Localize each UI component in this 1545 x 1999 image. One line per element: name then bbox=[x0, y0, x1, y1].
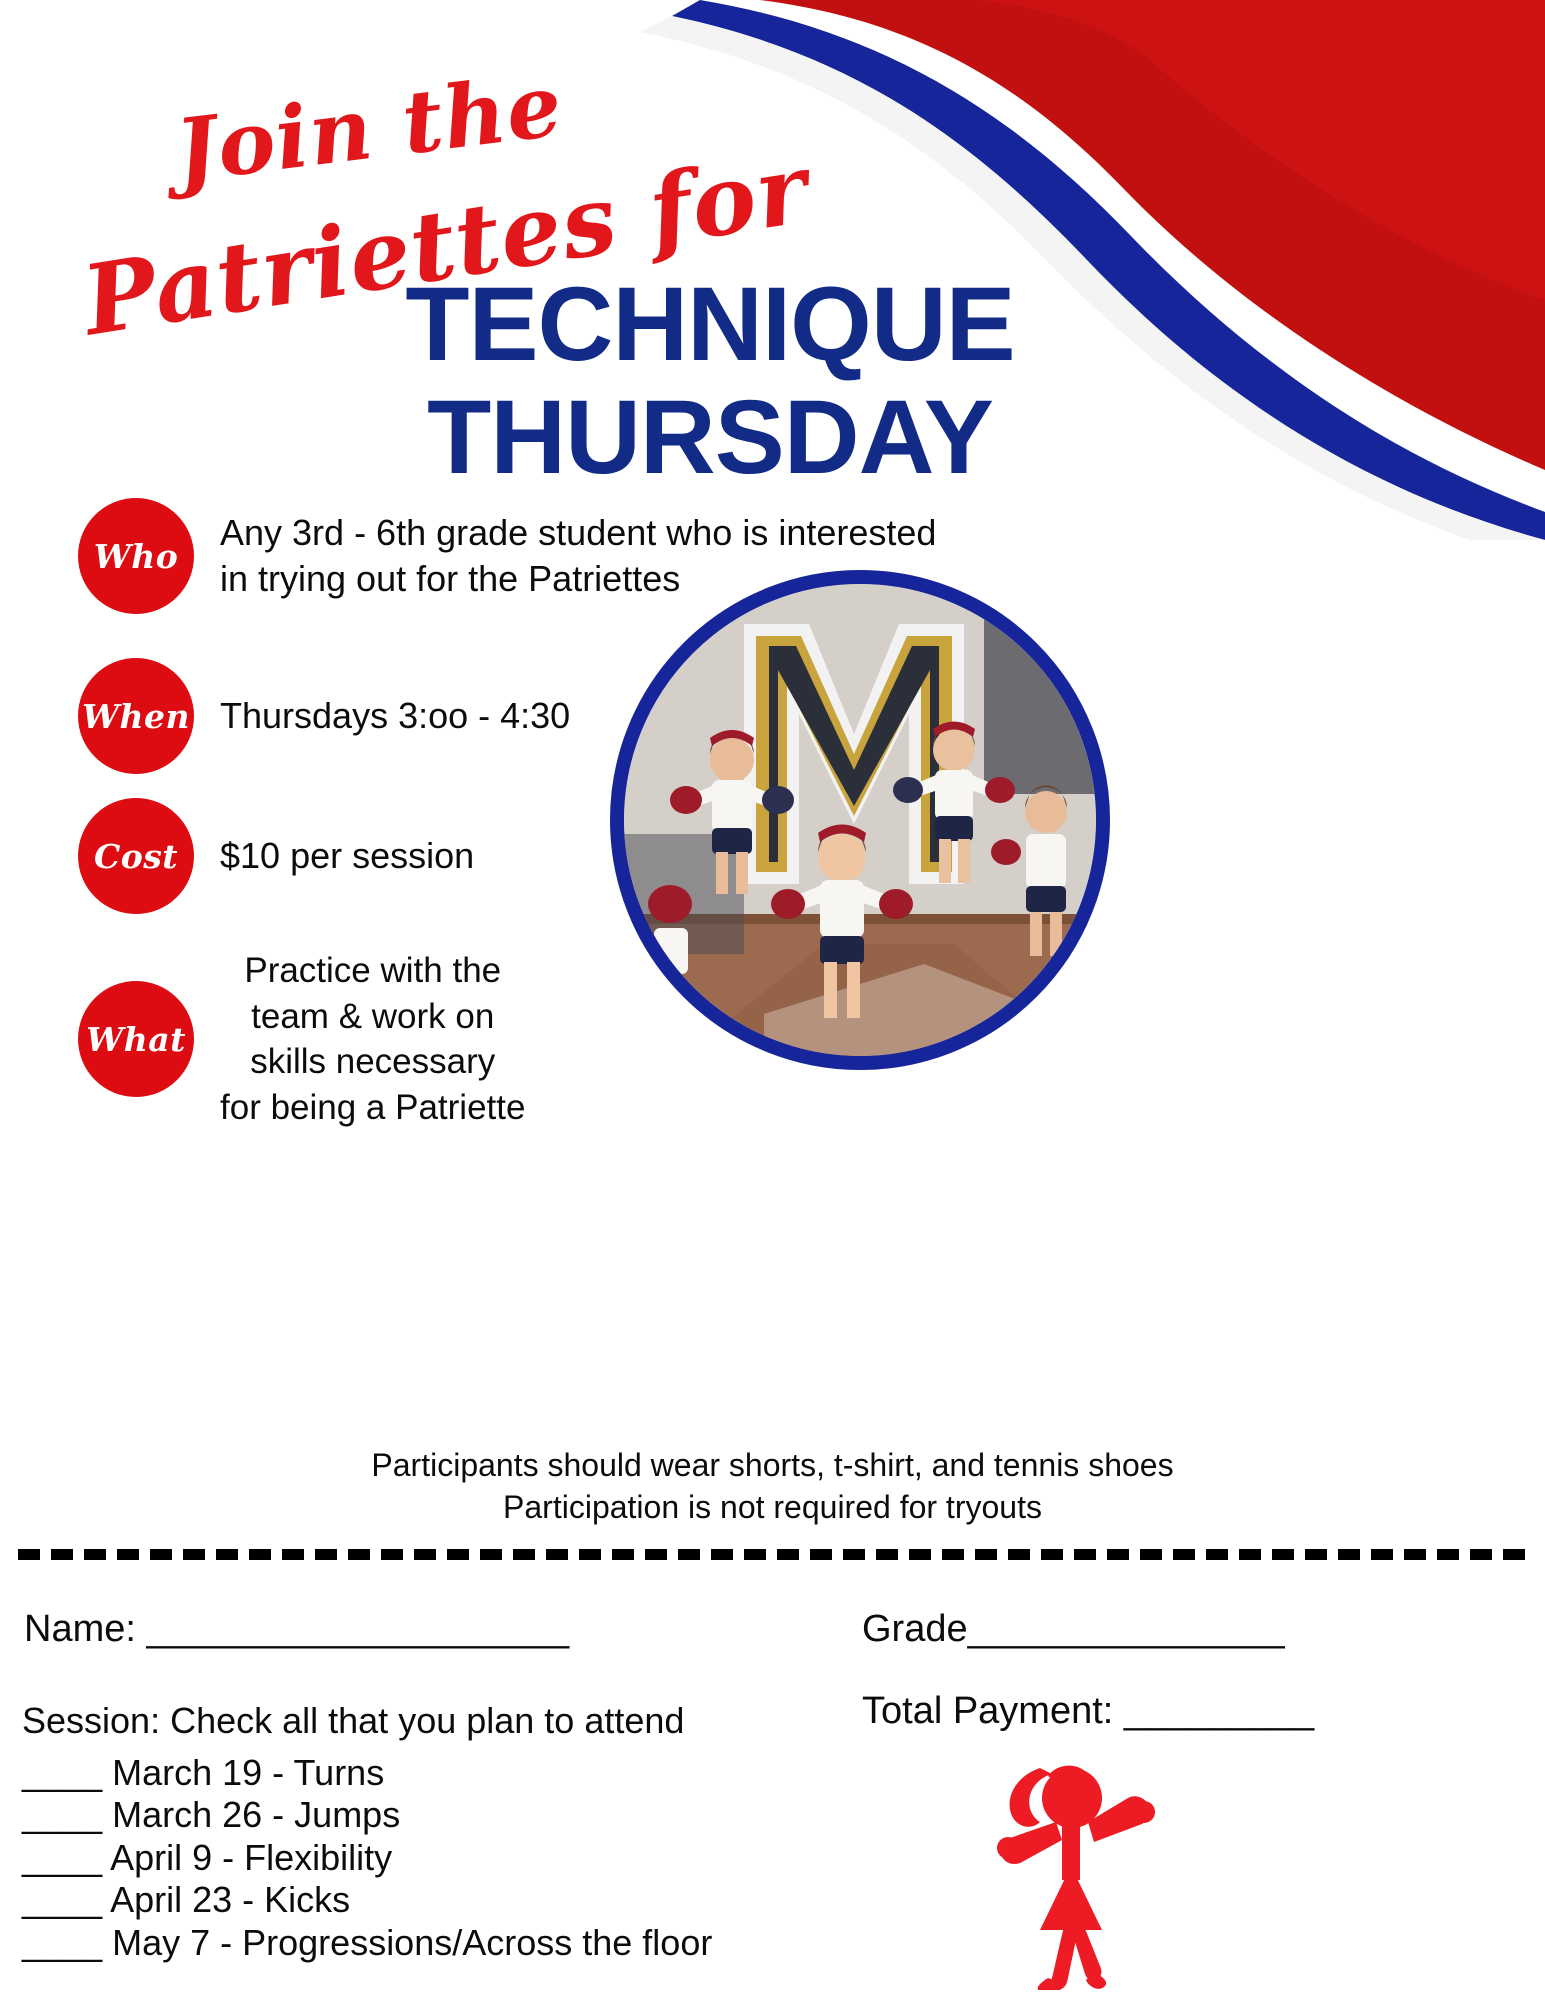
name-field[interactable]: Name: ____________________ bbox=[24, 1608, 569, 1651]
session-item[interactable]: ____ May 7 - Progressions/Across the flo… bbox=[22, 1922, 922, 1964]
session-label: March 26 - Jumps bbox=[112, 1794, 400, 1835]
title-line-thursday: THURSDAY bbox=[380, 381, 1040, 494]
session-checkbox-blank[interactable]: ____ bbox=[22, 1794, 102, 1835]
total-payment-blank-line[interactable]: _________ bbox=[1124, 1690, 1314, 1732]
session-label: April 23 - Kicks bbox=[110, 1879, 350, 1920]
page-title: TECHNIQUE THURSDAY bbox=[380, 268, 1040, 495]
note-line-2: Participation is not required for tryout… bbox=[0, 1486, 1545, 1528]
session-label: March 19 - Turns bbox=[112, 1752, 384, 1793]
session-item[interactable]: ____ April 9 - Flexibility bbox=[22, 1837, 922, 1879]
session-label: May 7 - Progressions/Across the floor bbox=[112, 1922, 712, 1963]
grade-field[interactable]: Grade_______________ bbox=[862, 1608, 1285, 1651]
title-line-technique: TECHNIQUE bbox=[380, 268, 1040, 381]
badge-when: When bbox=[78, 658, 194, 774]
session-item[interactable]: ____ March 19 - Turns bbox=[22, 1752, 922, 1794]
grade-label: Grade bbox=[862, 1608, 968, 1650]
session-item[interactable]: ____ April 23 - Kicks bbox=[22, 1879, 922, 1921]
total-payment-label: Total Payment: bbox=[862, 1690, 1113, 1732]
note-line-1: Participants should wear shorts, t-shirt… bbox=[0, 1444, 1545, 1486]
participant-notes: Participants should wear shorts, t-shirt… bbox=[0, 1444, 1545, 1528]
grade-blank-line[interactable]: _______________ bbox=[968, 1608, 1285, 1650]
session-item[interactable]: ____ March 26 - Jumps bbox=[22, 1794, 922, 1836]
info-text-what: Practice with the team & work on skills … bbox=[220, 948, 525, 1130]
info-row-when: When Thursdays 3:oo - 4:30 bbox=[78, 658, 698, 774]
session-checklist: ____ March 19 - Turns ____ March 26 - Ju… bbox=[22, 1752, 922, 1964]
info-row-cost: Cost $10 per session bbox=[78, 798, 698, 914]
session-heading: Session: Check all that you plan to atte… bbox=[22, 1700, 684, 1742]
flyer-page: Join the Patriettes for TECHNIQUE THURSD… bbox=[0, 0, 1545, 1999]
session-checkbox-blank[interactable]: ____ bbox=[22, 1837, 102, 1878]
info-row-what: What Practice with the team & work on sk… bbox=[78, 948, 638, 1130]
cheerleader-icon bbox=[968, 1740, 1168, 1990]
badge-what: What bbox=[78, 981, 194, 1097]
session-checkbox-blank[interactable]: ____ bbox=[22, 1752, 102, 1793]
total-payment-field[interactable]: Total Payment: _________ bbox=[862, 1690, 1314, 1733]
tear-off-divider bbox=[18, 1549, 1528, 1560]
badge-cost: Cost bbox=[78, 798, 194, 914]
name-label: Name: bbox=[24, 1608, 136, 1650]
session-checkbox-blank[interactable]: ____ bbox=[22, 1879, 102, 1920]
badge-who: Who bbox=[78, 498, 194, 614]
session-checkbox-blank[interactable]: ____ bbox=[22, 1922, 102, 1963]
info-text-when: Thursdays 3:oo - 4:30 bbox=[220, 693, 570, 739]
team-photo bbox=[610, 570, 1110, 1070]
swoosh-red-highlight bbox=[980, 0, 1545, 300]
team-photo-illustration bbox=[624, 584, 1096, 1056]
session-label: April 9 - Flexibility bbox=[110, 1837, 392, 1878]
name-blank-line[interactable]: ____________________ bbox=[146, 1608, 569, 1650]
info-text-cost: $10 per session bbox=[220, 833, 474, 879]
